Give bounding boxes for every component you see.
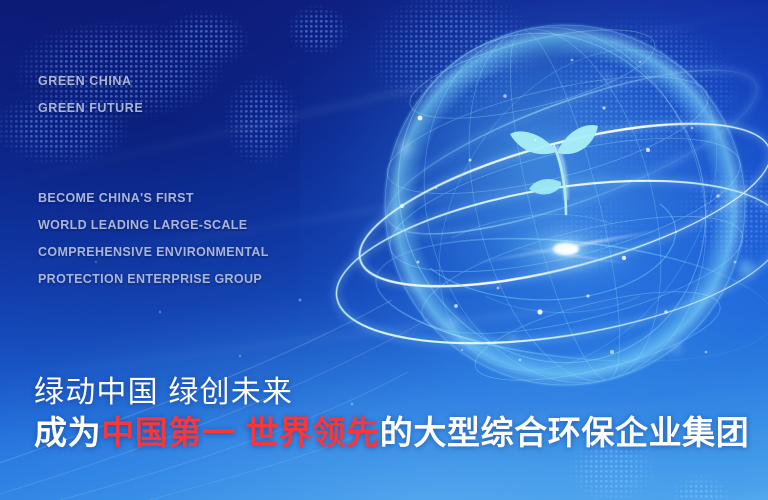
core-swirls [430, 204, 676, 313]
particles-glow [398, 73, 754, 354]
headline-line-2: 成为中国第一 世界领先的大型综合环保企业集团 [34, 412, 754, 454]
sprout-leaf-left [510, 131, 556, 154]
tagline-line-2: WORLD LEADING LARGE-SCALE [38, 212, 269, 239]
sprout-leaf-right [558, 125, 598, 154]
eyebrow-text-block: GREEN CHINA GREEN FUTURE [38, 68, 143, 122]
headline-suffix: 的大型综合环保企业集团 [380, 414, 750, 451]
eyebrow-line-1: GREEN CHINA [38, 68, 143, 95]
headline-prefix: 成为 [34, 414, 101, 451]
tagline-line-3: COMPREHENSIVE ENVIRONMENTAL [38, 239, 269, 266]
globe-latitudes [350, 0, 768, 412]
sprout-stem [554, 146, 566, 214]
headline-line-1: 绿动中国 绿创未来 [34, 374, 754, 412]
globe-sphere [385, 25, 745, 385]
sprout-leaf-lower [529, 179, 561, 194]
tagline-text-block: BECOME CHINA'S FIRST WORLD LEADING LARGE… [38, 185, 269, 293]
tagline-line-4: PROTECTION ENTERPRISE GROUP [38, 266, 269, 293]
eyebrow-line-2: GREEN FUTURE [38, 95, 143, 122]
headline-accent: 中国第一 世界领先 [101, 414, 380, 451]
core-burst [471, 216, 668, 284]
headline-block: 绿动中国 绿创未来 成为中国第一 世界领先的大型综合环保企业集团 [34, 374, 754, 454]
tagline-line-1: BECOME CHINA'S FIRST [38, 185, 269, 212]
globe-meridians [385, 0, 745, 413]
promo-banner: GREEN CHINA GREEN FUTURE BECOME CHINA'S … [0, 0, 768, 500]
sprout-seedling [510, 125, 598, 214]
orbital-rings [325, 0, 768, 422]
